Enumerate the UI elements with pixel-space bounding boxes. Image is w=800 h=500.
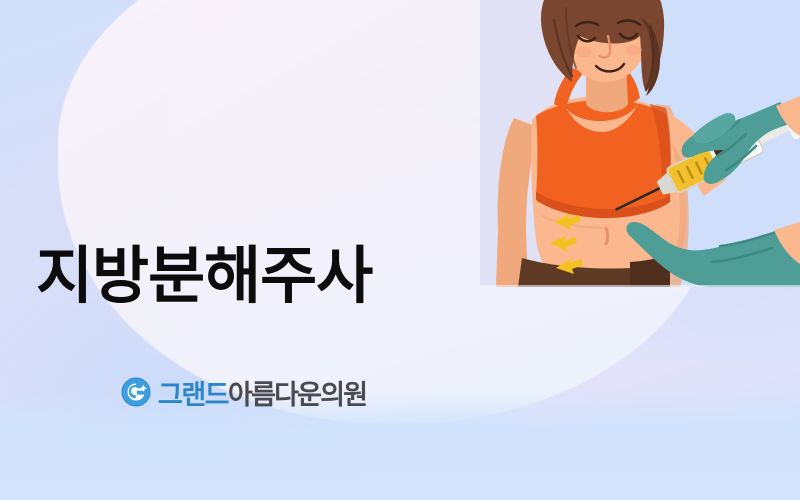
logo-wordmark: 그랜드 아름다운의원 [158, 373, 366, 412]
promotional-banner: 지방분해주사 그랜드 아름다운의원 [0, 0, 800, 500]
logo-sub-text: 아름다운의원 [228, 373, 366, 412]
logo-brand-text: 그랜드 [158, 373, 228, 412]
clinic-logo[interactable]: 그랜드 아름다운의원 [120, 372, 366, 412]
page-title: 지방분해주사 [36, 246, 372, 308]
g-plus-circle-icon [120, 376, 152, 408]
fat-dissolving-injection-illustration [480, 0, 800, 287]
